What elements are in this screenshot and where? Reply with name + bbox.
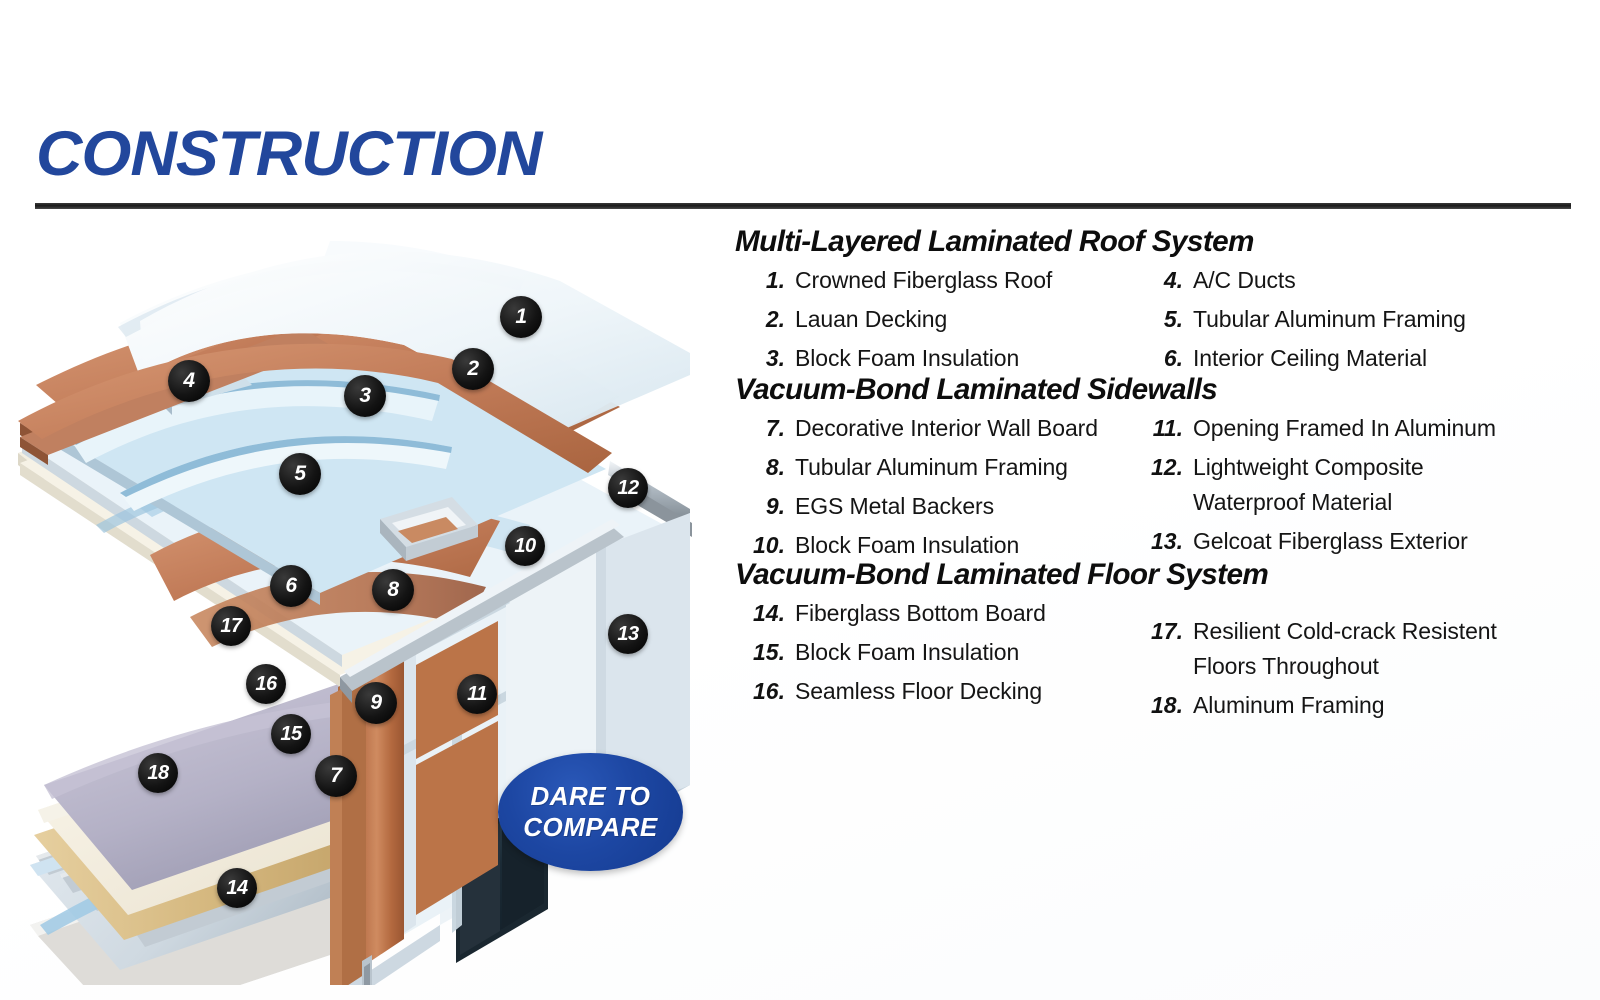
legend-section-roof: Multi-Layered Laminated Roof System 1. C… (735, 225, 1535, 383)
roof-items-left: 1. Crowned Fiberglass Roof 2. Lauan Deck… (741, 263, 1141, 380)
list-item-number: 1. (741, 263, 785, 298)
list-item: 18. Aluminum Framing (1139, 688, 1539, 723)
list-item: 8. Tubular Aluminum Framing (741, 450, 1141, 485)
list-item-label: Opening Framed In Aluminum (1193, 411, 1496, 446)
sidewall-items-left: 7. Decorative Interior Wall Board 8. Tub… (741, 411, 1141, 567)
callout-badge-6[interactable]: 6 (270, 565, 312, 607)
list-item: 2. Lauan Decking (741, 302, 1141, 337)
list-item-number: 8. (741, 450, 785, 485)
list-item-label: Lauan Decking (795, 302, 947, 337)
list-item: 4. A/C Ducts (1139, 263, 1539, 298)
dare-line-2: COMPARE (523, 812, 657, 843)
roof-items-right: 4. A/C Ducts 5. Tubular Aluminum Framing… (1139, 263, 1539, 380)
list-item-label: Seamless Floor Decking (795, 674, 1042, 709)
construction-cutaway-illustration (0, 225, 720, 985)
list-item-number: 6. (1139, 341, 1183, 376)
list-item-number: 9. (741, 489, 785, 524)
list-item-label-line1: Resilient Cold-crack Resistent (1193, 618, 1497, 644)
list-item: 17. Resilient Cold-crack Resistent Floor… (1139, 614, 1539, 684)
list-item: 1. Crowned Fiberglass Roof (741, 263, 1141, 298)
callout-badge-9[interactable]: 9 (355, 682, 397, 724)
floor-items-left: 14. Fiberglass Bottom Board 15. Block Fo… (741, 596, 1141, 713)
callout-badge-11[interactable]: 11 (457, 674, 497, 714)
list-item-label: Resilient Cold-crack Resistent Floors Th… (1193, 614, 1497, 684)
callout-badge-8[interactable]: 8 (372, 569, 414, 611)
callout-badge-3[interactable]: 3 (344, 375, 386, 417)
list-item-label: Lightweight Composite Waterproof Materia… (1193, 450, 1424, 520)
callout-badge-4[interactable]: 4 (168, 360, 210, 402)
title-divider (35, 203, 1571, 209)
callout-badge-18[interactable]: 18 (138, 753, 178, 793)
list-item-label-line2: Waterproof Material (1193, 485, 1424, 520)
list-item-number: 5. (1139, 302, 1183, 337)
callout-badge-17[interactable]: 17 (211, 606, 251, 646)
list-item: 12. Lightweight Composite Waterproof Mat… (1139, 450, 1539, 520)
page-title: CONSTRUCTION (36, 118, 541, 190)
list-item: 14. Fiberglass Bottom Board (741, 596, 1141, 631)
dare-line-1: DARE TO (530, 781, 650, 812)
list-item-number: 16. (741, 674, 785, 709)
section-heading-sidewalls: Vacuum-Bond Laminated Sidewalls (735, 373, 1527, 407)
list-item-label: Fiberglass Bottom Board (795, 596, 1046, 631)
list-item: 11. Opening Framed In Aluminum (1139, 411, 1539, 446)
list-item: 15. Block Foam Insulation (741, 635, 1141, 670)
callout-badge-7[interactable]: 7 (315, 755, 357, 797)
floor-items-right: 17. Resilient Cold-crack Resistent Floor… (1139, 614, 1539, 727)
list-item-number: 11. (1139, 411, 1183, 446)
callout-badge-5[interactable]: 5 (279, 453, 321, 495)
callout-badge-2[interactable]: 2 (452, 348, 494, 390)
list-item: 13. Gelcoat Fiberglass Exterior (1139, 524, 1539, 559)
list-item: 7. Decorative Interior Wall Board (741, 411, 1141, 446)
dare-to-compare-badge[interactable]: DARE TO COMPARE (498, 753, 683, 871)
sidewall-items-right: 11. Opening Framed In Aluminum 12. Light… (1139, 411, 1539, 563)
list-item-number: 2. (741, 302, 785, 337)
list-item-label: Interior Ceiling Material (1193, 341, 1427, 376)
list-item-number: 4. (1139, 263, 1183, 298)
callout-badge-12[interactable]: 12 (608, 468, 648, 508)
list-item: 6. Interior Ceiling Material (1139, 341, 1539, 376)
list-item-label-line2: Floors Throughout (1193, 649, 1497, 684)
list-item-label: EGS Metal Backers (795, 489, 994, 524)
list-item-label: Crowned Fiberglass Roof (795, 263, 1052, 298)
callout-badge-15[interactable]: 15 (271, 714, 311, 754)
section-heading-floor: Vacuum-Bond Laminated Floor System (735, 558, 1527, 592)
list-item-number: 18. (1139, 688, 1183, 723)
list-item: 3. Block Foam Insulation (741, 341, 1141, 376)
list-item-label: Tubular Aluminum Framing (795, 450, 1068, 485)
callout-badge-16[interactable]: 16 (246, 664, 286, 704)
callout-badge-14[interactable]: 14 (217, 868, 257, 908)
list-item: 9. EGS Metal Backers (741, 489, 1141, 524)
list-item-label: A/C Ducts (1193, 263, 1296, 298)
section-heading-roof: Multi-Layered Laminated Roof System (735, 225, 1527, 259)
list-item-label: Block Foam Insulation (795, 635, 1019, 670)
list-item: 16. Seamless Floor Decking (741, 674, 1141, 709)
list-item-number: 7. (741, 411, 785, 446)
callout-badge-10[interactable]: 10 (505, 526, 545, 566)
list-item-label: Decorative Interior Wall Board (795, 411, 1098, 446)
list-item-label: Aluminum Framing (1193, 688, 1384, 723)
list-item-label: Tubular Aluminum Framing (1193, 302, 1466, 337)
legend-section-sidewalls: Vacuum-Bond Laminated Sidewalls 7. Decor… (735, 373, 1535, 569)
list-item: 5. Tubular Aluminum Framing (1139, 302, 1539, 337)
list-item-number: 13. (1139, 524, 1183, 559)
list-item-number: 14. (741, 596, 785, 631)
list-item-number: 15. (741, 635, 785, 670)
list-item-label: Block Foam Insulation (795, 341, 1019, 376)
list-item-number: 3. (741, 341, 785, 376)
callout-badge-13[interactable]: 13 (608, 614, 648, 654)
poster-root: CONSTRUCTION (0, 0, 1600, 1000)
legend-section-floor: Vacuum-Bond Laminated Floor System 14. F… (735, 558, 1535, 726)
list-item-number: 17. (1139, 614, 1183, 649)
list-item-label: Gelcoat Fiberglass Exterior (1193, 524, 1468, 559)
list-item-number: 12. (1139, 450, 1183, 485)
list-item-label-line1: Lightweight Composite (1193, 454, 1424, 480)
callout-badge-1[interactable]: 1 (500, 296, 542, 338)
